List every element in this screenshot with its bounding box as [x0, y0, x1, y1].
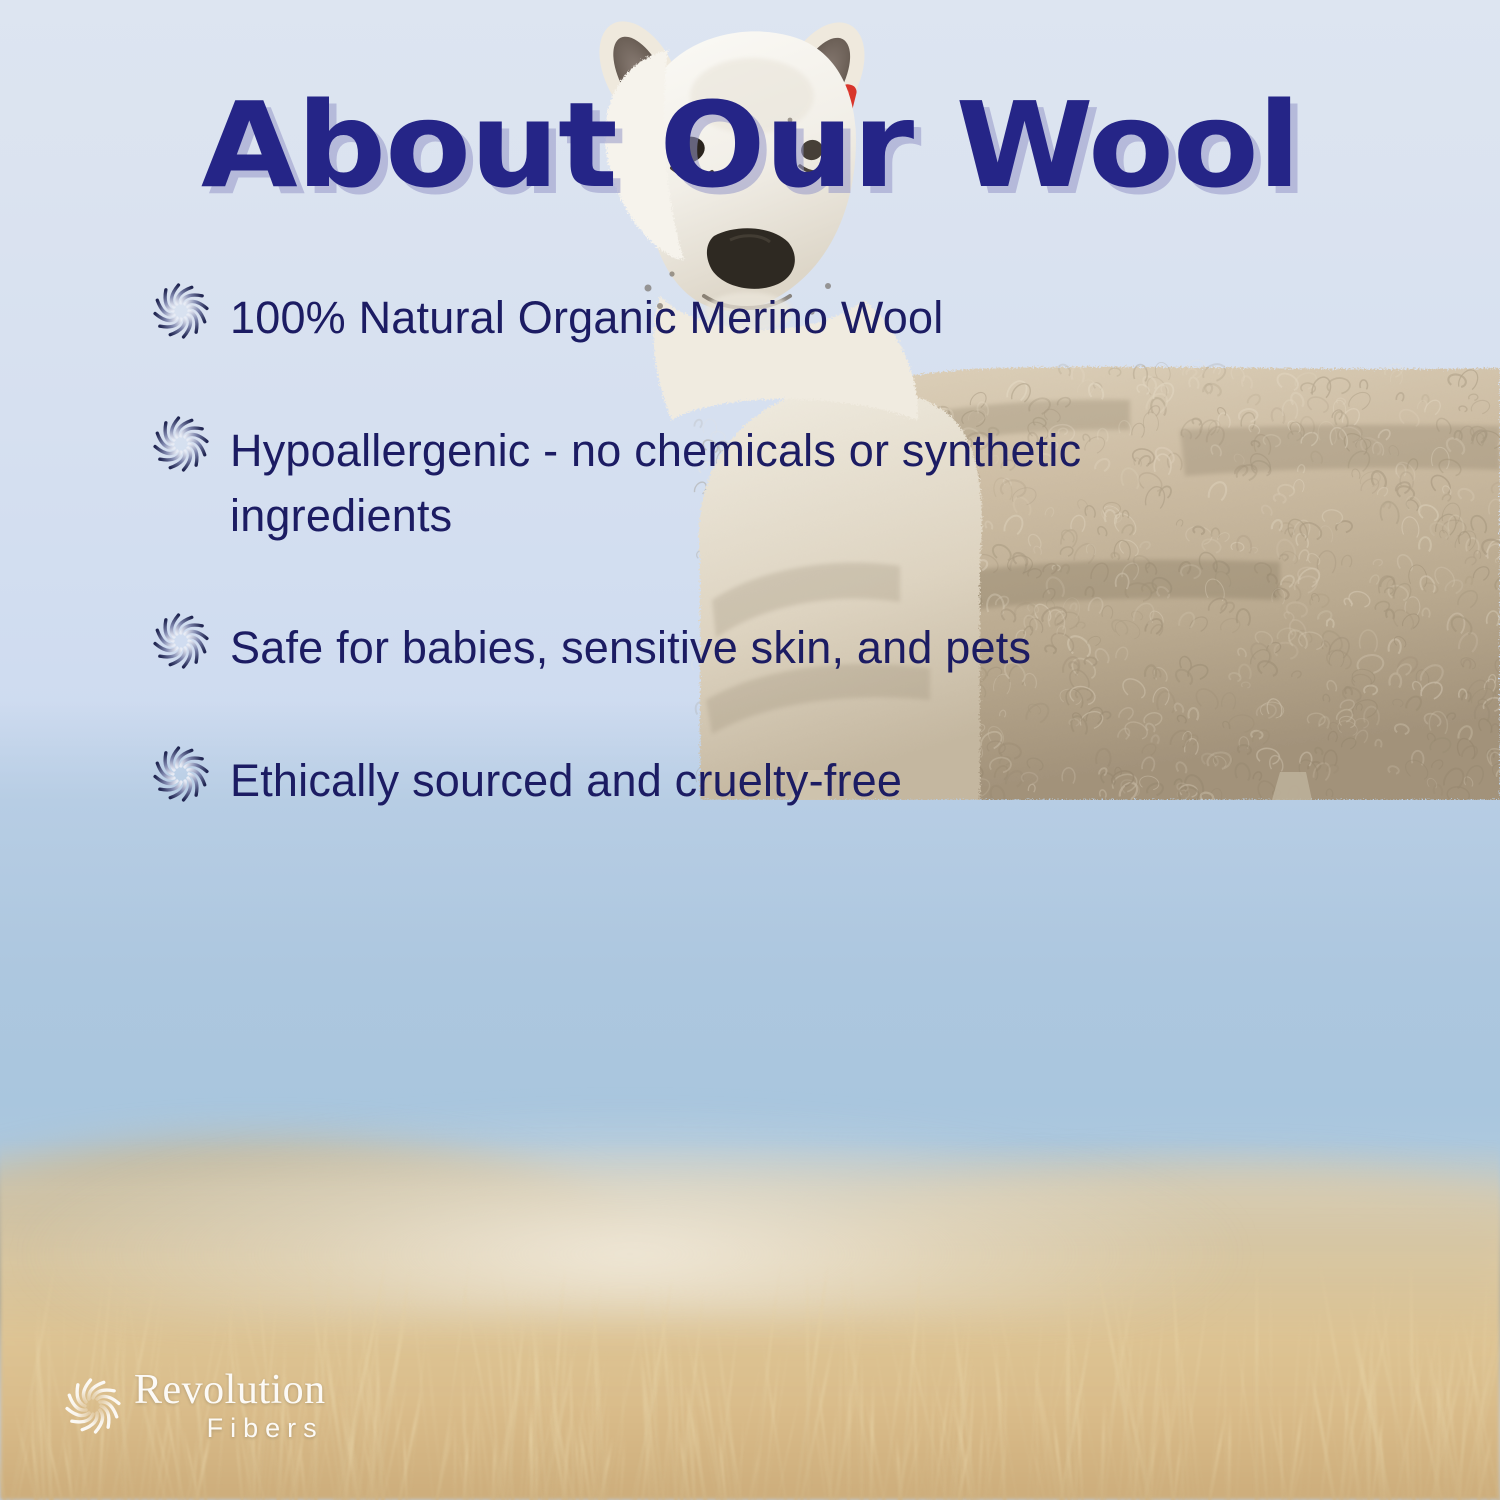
fiber-swirl-icon: [150, 610, 212, 672]
list-item-label: Safe for babies, sensitive skin, and pet…: [230, 616, 1031, 681]
list-item-label: 100% Natural Organic Merino Wool: [230, 286, 943, 351]
fiber-swirl-icon: [150, 413, 212, 475]
list-item: Hypoallergenic - no chemicals or synthet…: [150, 419, 1370, 549]
wool-infographic-poster: About Our Wool 100% Natural Organic Meri…: [0, 0, 1500, 1500]
brand-subtitle: Fibers: [134, 1415, 324, 1442]
brand-name: Revolution: [134, 1369, 326, 1411]
grass-blades: [0, 1160, 1500, 1500]
page-title: About Our Wool: [201, 86, 1300, 204]
feature-list: 100% Natural Organic Merino Wool Hypoall…: [150, 286, 1370, 882]
list-item: Safe for babies, sensitive skin, and pet…: [150, 616, 1370, 681]
page-title-container: About Our Wool: [0, 86, 1500, 204]
fiber-swirl-icon: [150, 280, 212, 342]
brand-logo-text: Revolution Fibers: [134, 1369, 326, 1442]
list-item: Ethically sourced and cruelty-free: [150, 749, 1370, 814]
list-item-label: Ethically sourced and cruelty-free: [230, 749, 902, 814]
fiber-swirl-icon: [62, 1375, 124, 1437]
list-item-label: Hypoallergenic - no chemicals or synthet…: [230, 419, 1260, 549]
brand-logo: Revolution Fibers: [62, 1369, 326, 1442]
fiber-swirl-icon: [150, 743, 212, 805]
list-item: 100% Natural Organic Merino Wool: [150, 286, 1370, 351]
